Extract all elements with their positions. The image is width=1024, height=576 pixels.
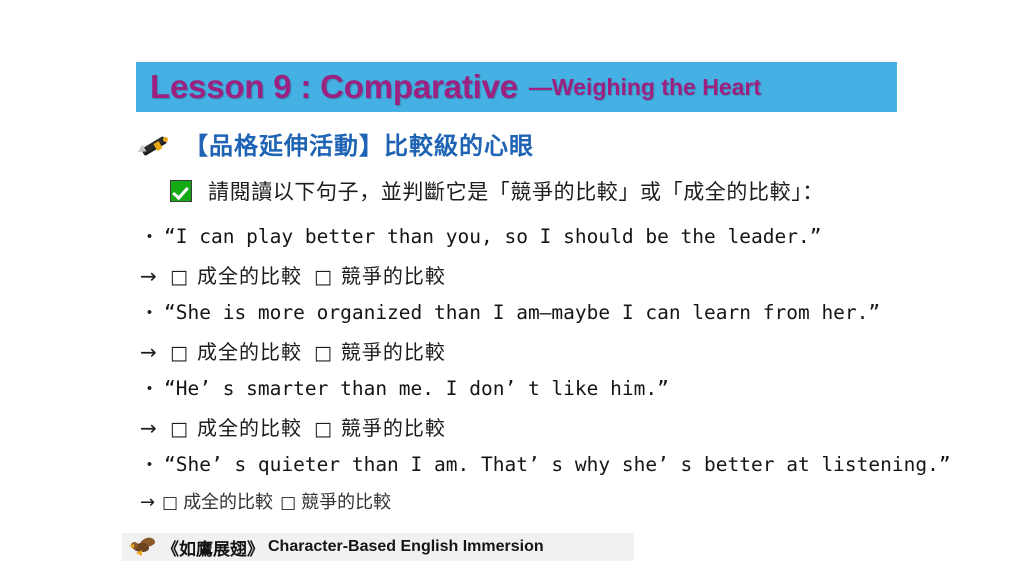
exercise-list: ・ “I can play better than you, so I shou… bbox=[140, 222, 1000, 524]
footer-chinese-title: 《如鷹展翅》 bbox=[162, 535, 264, 560]
checkbox-icon[interactable]: □ bbox=[170, 342, 188, 364]
checkbox-icon[interactable]: □ bbox=[314, 266, 332, 288]
option-label-competitive[interactable]: 競爭的比較 bbox=[341, 336, 446, 365]
slide-title-subtitle: —Weighing the Heart bbox=[529, 74, 761, 101]
option-row: → □ 成全的比較 □ 競爭的比較 bbox=[140, 336, 1000, 374]
checkbox-icon[interactable]: □ bbox=[280, 493, 296, 513]
slide-title-main: Lesson 9 : Comparative bbox=[150, 68, 518, 106]
sentence-row: ・ “He’ s smarter than me. I don’ t like … bbox=[140, 374, 1000, 412]
slide-title-band: Lesson 9 : Comparative —Weighing the Hea… bbox=[136, 62, 897, 112]
checkbox-icon[interactable]: □ bbox=[314, 418, 332, 440]
sentence-row: ・ “She’ s quieter than I am. That’ s why… bbox=[140, 450, 1000, 488]
sentence-text: “She is more organized than I am—maybe I… bbox=[164, 301, 880, 324]
arrow-icon: → bbox=[140, 492, 162, 513]
arrow-icon: → bbox=[140, 416, 170, 440]
instruction-row: 請閱讀以下句子，並判斷它是「競爭的比較」或「成全的比較」： bbox=[170, 176, 824, 206]
checkbox-icon[interactable]: □ bbox=[170, 418, 188, 440]
checkbox-icon[interactable]: □ bbox=[170, 266, 188, 288]
option-row: → □ 成全的比較 □ 競爭的比較 bbox=[140, 412, 1000, 450]
option-label-supportive[interactable]: 成全的比較 bbox=[197, 412, 302, 441]
footer-bar: 《如鷹展翅》 Character-Based English Immersion bbox=[122, 533, 634, 561]
sentence-row: ・ “I can play better than you, so I shou… bbox=[140, 222, 1000, 260]
option-label-competitive[interactable]: 競爭的比較 bbox=[341, 260, 446, 289]
pencil-icon bbox=[136, 131, 170, 157]
arrow-icon: → bbox=[140, 264, 170, 288]
instruction-label: 請閱讀以下句子，並判斷它是「競爭的比較」或「成全的比較」： bbox=[208, 176, 824, 206]
option-label-supportive[interactable]: 成全的比較 bbox=[197, 336, 302, 365]
option-label-supportive[interactable]: 成全的比較 bbox=[183, 488, 273, 514]
activity-heading-label: 【品格延伸活動】比較級的心眼 bbox=[184, 126, 534, 161]
option-row: → □ 成全的比較 □ 競爭的比較 bbox=[140, 488, 1000, 524]
footer-english-title: Character-Based English Immersion bbox=[268, 538, 544, 556]
option-label-supportive[interactable]: 成全的比較 bbox=[197, 260, 302, 289]
bullet-icon: ・ bbox=[140, 450, 164, 477]
activity-heading: 【品格延伸活動】比較級的心眼 bbox=[136, 126, 534, 161]
checkbox-icon[interactable]: □ bbox=[162, 493, 178, 513]
checkbox-icon[interactable]: □ bbox=[314, 342, 332, 364]
bullet-icon: ・ bbox=[140, 298, 164, 325]
option-row: → □ 成全的比較 □ 競爭的比較 bbox=[140, 260, 1000, 298]
arrow-icon: → bbox=[140, 340, 170, 364]
eagle-icon bbox=[130, 537, 156, 557]
option-label-competitive[interactable]: 競爭的比較 bbox=[341, 412, 446, 441]
sentence-text: “I can play better than you, so I should… bbox=[164, 225, 821, 248]
sentence-text: “He’ s smarter than me. I don’ t like hi… bbox=[164, 377, 669, 400]
option-label-competitive[interactable]: 競爭的比較 bbox=[301, 488, 391, 514]
bullet-icon: ・ bbox=[140, 222, 164, 249]
green-check-icon bbox=[170, 180, 192, 202]
bullet-icon: ・ bbox=[140, 374, 164, 401]
sentence-text: “She’ s quieter than I am. That’ s why s… bbox=[164, 453, 951, 476]
sentence-row: ・ “She is more organized than I am—maybe… bbox=[140, 298, 1000, 336]
